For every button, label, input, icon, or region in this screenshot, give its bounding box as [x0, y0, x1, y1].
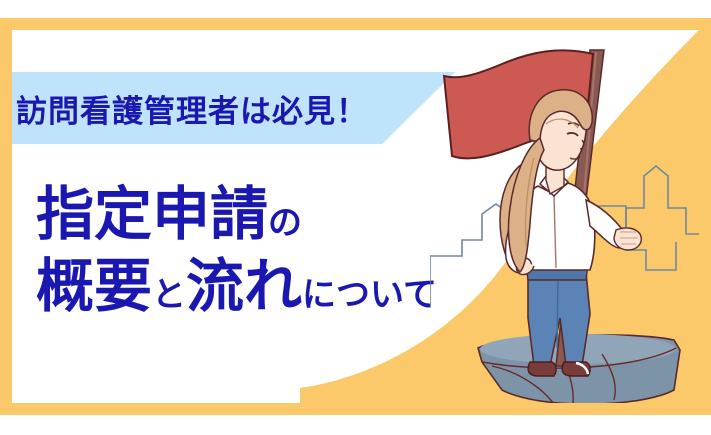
- headline-line-1: 指定申請の: [36, 186, 556, 244]
- headline-block: 指定申請の 概要と流れについて: [36, 186, 556, 316]
- headline-line2-particle2: について: [302, 276, 437, 314]
- frame-edge-top: [0, 18, 711, 30]
- headline-line2-particle1: と: [152, 276, 186, 314]
- ribbon-label: 訪問看護管理者は必見！: [16, 78, 446, 138]
- frame-edge-bottom: [0, 403, 711, 415]
- headline-line1-main: 指定申請: [36, 182, 268, 247]
- headline-line2-main1: 概要: [36, 254, 152, 319]
- poster-canvas: 訪問看護管理者は必見！ 指定申請の 概要と流れについて: [0, 0, 711, 435]
- headline-line2-main2: 流れ: [186, 254, 302, 319]
- frame-edge-left: [0, 18, 12, 415]
- headline-line1-particle: の: [268, 204, 302, 242]
- headline-line-2: 概要と流れについて: [36, 258, 556, 316]
- frame-edge-right: [699, 18, 711, 415]
